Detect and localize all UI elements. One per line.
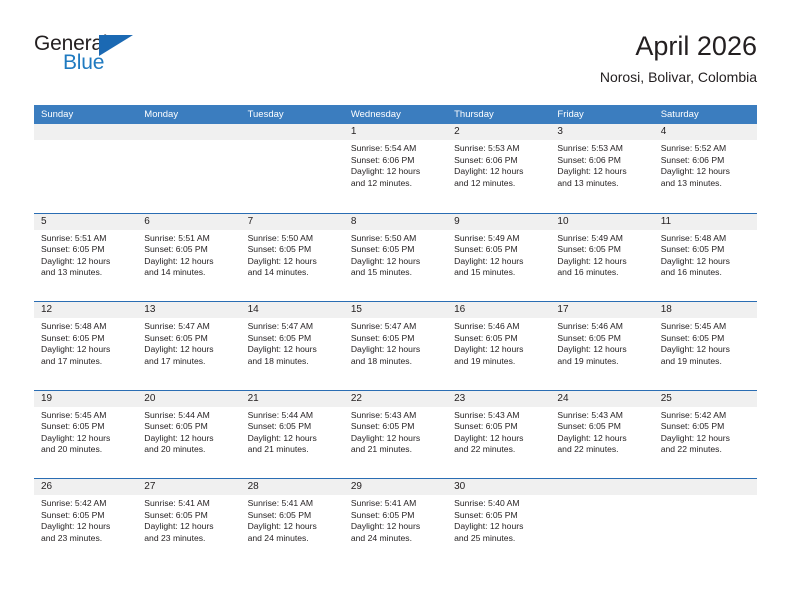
week-row: 5Sunrise: 5:51 AMSunset: 6:05 PMDaylight… — [34, 213, 757, 302]
day-cell-22[interactable]: 22Sunrise: 5:43 AMSunset: 6:05 PMDayligh… — [344, 391, 447, 479]
day-number: 11 — [654, 214, 757, 230]
day-detail-line: Sunrise: 5:43 AM — [351, 410, 441, 422]
day-details: Sunrise: 5:44 AMSunset: 6:05 PMDaylight:… — [241, 407, 344, 456]
day-number-band — [241, 124, 344, 140]
day-detail-line: Sunrise: 5:54 AM — [351, 143, 441, 155]
title-block: April 2026 Norosi, Bolivar, Colombia — [600, 30, 757, 86]
day-detail-line: and 19 minutes. — [557, 356, 647, 368]
day-detail-line: Sunset: 6:05 PM — [144, 510, 234, 522]
day-cell-15[interactable]: 15Sunrise: 5:47 AMSunset: 6:05 PMDayligh… — [344, 302, 447, 390]
day-number-band: 20 — [137, 391, 240, 407]
day-detail-line: and 14 minutes. — [248, 267, 338, 279]
day-detail-line: and 22 minutes. — [661, 444, 751, 456]
day-detail-line: Sunset: 6:05 PM — [454, 244, 544, 256]
day-number-band: 19 — [34, 391, 137, 407]
day-number-band: 8 — [344, 214, 447, 230]
day-detail-line: Daylight: 12 hours — [144, 344, 234, 356]
day-number: 21 — [241, 391, 344, 407]
day-number: 4 — [654, 124, 757, 140]
day-detail-line: Sunrise: 5:47 AM — [248, 321, 338, 333]
day-details: Sunrise: 5:43 AMSunset: 6:05 PMDaylight:… — [447, 407, 550, 456]
day-detail-line: Sunrise: 5:49 AM — [454, 233, 544, 245]
day-number: 3 — [550, 124, 653, 140]
day-detail-line: Sunrise: 5:41 AM — [248, 498, 338, 510]
day-detail-line: and 21 minutes. — [248, 444, 338, 456]
day-detail-line: Sunrise: 5:51 AM — [41, 233, 131, 245]
day-detail-line: Daylight: 12 hours — [557, 344, 647, 356]
day-detail-line: Sunrise: 5:53 AM — [454, 143, 544, 155]
day-detail-line: Sunrise: 5:44 AM — [144, 410, 234, 422]
day-detail-line: Sunset: 6:05 PM — [144, 421, 234, 433]
day-detail-line: Daylight: 12 hours — [454, 433, 544, 445]
day-detail-line: Sunset: 6:06 PM — [351, 155, 441, 167]
brand-name-blue: Blue — [63, 51, 104, 75]
day-cell-16[interactable]: 16Sunrise: 5:46 AMSunset: 6:05 PMDayligh… — [447, 302, 550, 390]
day-detail-line: Daylight: 12 hours — [144, 433, 234, 445]
day-cell-13[interactable]: 13Sunrise: 5:47 AMSunset: 6:05 PMDayligh… — [137, 302, 240, 390]
day-number: 27 — [137, 479, 240, 495]
day-details: Sunrise: 5:50 AMSunset: 6:05 PMDaylight:… — [241, 230, 344, 279]
day-detail-line: Sunset: 6:05 PM — [454, 421, 544, 433]
weekday-header-sunday: Sunday — [34, 105, 137, 124]
day-detail-line: Daylight: 12 hours — [661, 166, 751, 178]
day-details: Sunrise: 5:43 AMSunset: 6:05 PMDaylight:… — [550, 407, 653, 456]
day-cell-1[interactable]: 1Sunrise: 5:54 AMSunset: 6:06 PMDaylight… — [344, 124, 447, 213]
day-detail-line: Sunrise: 5:48 AM — [661, 233, 751, 245]
day-number-band: 25 — [654, 391, 757, 407]
day-detail-line: Sunrise: 5:42 AM — [41, 498, 131, 510]
day-cell-14[interactable]: 14Sunrise: 5:47 AMSunset: 6:05 PMDayligh… — [241, 302, 344, 390]
day-details: Sunrise: 5:48 AMSunset: 6:05 PMDaylight:… — [654, 230, 757, 279]
page-header: General Blue April 2026 Norosi, Bolivar,… — [34, 30, 757, 96]
day-detail-line: Sunrise: 5:46 AM — [557, 321, 647, 333]
day-detail-line: Daylight: 12 hours — [454, 256, 544, 268]
day-detail-line: Sunrise: 5:44 AM — [248, 410, 338, 422]
day-detail-line: Daylight: 12 hours — [41, 521, 131, 533]
day-details: Sunrise: 5:46 AMSunset: 6:05 PMDaylight:… — [447, 318, 550, 367]
weekday-header-wednesday: Wednesday — [344, 105, 447, 124]
day-number-band: 5 — [34, 214, 137, 230]
day-detail-line: and 23 minutes. — [144, 533, 234, 545]
week-row: 1Sunrise: 5:54 AMSunset: 6:06 PMDaylight… — [34, 124, 757, 213]
day-detail-line: Sunset: 6:05 PM — [248, 421, 338, 433]
day-detail-line: Sunrise: 5:46 AM — [454, 321, 544, 333]
day-number: 25 — [654, 391, 757, 407]
day-detail-line: and 14 minutes. — [144, 267, 234, 279]
day-details: Sunrise: 5:47 AMSunset: 6:05 PMDaylight:… — [344, 318, 447, 367]
day-number: 13 — [137, 302, 240, 318]
day-detail-line: Sunset: 6:05 PM — [351, 244, 441, 256]
day-detail-line: Sunset: 6:05 PM — [41, 244, 131, 256]
day-detail-line: Sunrise: 5:45 AM — [41, 410, 131, 422]
day-cell-4[interactable]: 4Sunrise: 5:52 AMSunset: 6:06 PMDaylight… — [654, 124, 757, 213]
day-number: 23 — [447, 391, 550, 407]
day-detail-line: Daylight: 12 hours — [248, 521, 338, 533]
day-detail-line: Sunrise: 5:43 AM — [454, 410, 544, 422]
day-number: 10 — [550, 214, 653, 230]
day-number: 26 — [34, 479, 137, 495]
day-details: Sunrise: 5:51 AMSunset: 6:05 PMDaylight:… — [137, 230, 240, 279]
day-number: 6 — [137, 214, 240, 230]
day-cell-12[interactable]: 12Sunrise: 5:48 AMSunset: 6:05 PMDayligh… — [34, 302, 137, 390]
day-cell-30[interactable]: 30Sunrise: 5:40 AMSunset: 6:05 PMDayligh… — [447, 479, 550, 567]
day-cell-empty — [137, 124, 240, 213]
day-number: 16 — [447, 302, 550, 318]
day-detail-line: Daylight: 12 hours — [661, 344, 751, 356]
day-detail-line: and 13 minutes. — [41, 267, 131, 279]
weekday-header-thursday: Thursday — [447, 105, 550, 124]
day-detail-line: Daylight: 12 hours — [454, 166, 544, 178]
day-detail-line: and 20 minutes. — [41, 444, 131, 456]
calendar-page: General Blue April 2026 Norosi, Bolivar,… — [0, 0, 792, 612]
day-detail-line: Sunset: 6:06 PM — [454, 155, 544, 167]
day-cell-19[interactable]: 19Sunrise: 5:45 AMSunset: 6:05 PMDayligh… — [34, 391, 137, 479]
day-cell-5[interactable]: 5Sunrise: 5:51 AMSunset: 6:05 PMDaylight… — [34, 214, 137, 302]
day-number-band — [34, 124, 137, 140]
day-detail-line: Sunrise: 5:51 AM — [144, 233, 234, 245]
day-detail-line: Sunrise: 5:41 AM — [144, 498, 234, 510]
day-cell-26[interactable]: 26Sunrise: 5:42 AMSunset: 6:05 PMDayligh… — [34, 479, 137, 567]
day-detail-line: and 12 minutes. — [454, 178, 544, 190]
day-number: 22 — [344, 391, 447, 407]
day-detail-line: Sunrise: 5:41 AM — [351, 498, 441, 510]
day-cell-empty — [654, 479, 757, 567]
day-details: Sunrise: 5:41 AMSunset: 6:05 PMDaylight:… — [137, 495, 240, 544]
day-cell-8[interactable]: 8Sunrise: 5:50 AMSunset: 6:05 PMDaylight… — [344, 214, 447, 302]
day-details: Sunrise: 5:42 AMSunset: 6:05 PMDaylight:… — [34, 495, 137, 544]
day-details: Sunrise: 5:45 AMSunset: 6:05 PMDaylight:… — [34, 407, 137, 456]
day-details: Sunrise: 5:48 AMSunset: 6:05 PMDaylight:… — [34, 318, 137, 367]
calendar-table: SundayMondayTuesdayWednesdayThursdayFrid… — [34, 105, 757, 567]
day-detail-line: Daylight: 12 hours — [351, 521, 441, 533]
day-detail-line: Daylight: 12 hours — [41, 344, 131, 356]
day-details: Sunrise: 5:51 AMSunset: 6:05 PMDaylight:… — [34, 230, 137, 279]
day-details: Sunrise: 5:47 AMSunset: 6:05 PMDaylight:… — [241, 318, 344, 367]
day-detail-line: Sunset: 6:05 PM — [351, 510, 441, 522]
day-detail-line: Sunset: 6:05 PM — [144, 333, 234, 345]
day-number-band: 29 — [344, 479, 447, 495]
day-details: Sunrise: 5:54 AMSunset: 6:06 PMDaylight:… — [344, 140, 447, 189]
day-number-band: 30 — [447, 479, 550, 495]
day-detail-line: Daylight: 12 hours — [454, 521, 544, 533]
week-row: 12Sunrise: 5:48 AMSunset: 6:05 PMDayligh… — [34, 301, 757, 390]
day-cell-3[interactable]: 3Sunrise: 5:53 AMSunset: 6:06 PMDaylight… — [550, 124, 653, 213]
day-detail-line: Sunrise: 5:53 AM — [557, 143, 647, 155]
day-detail-line: and 17 minutes. — [41, 356, 131, 368]
day-number: 24 — [550, 391, 653, 407]
brand-logo[interactable]: General Blue — [34, 32, 144, 78]
weekday-header-row: SundayMondayTuesdayWednesdayThursdayFrid… — [34, 105, 757, 124]
day-detail-line: Sunrise: 5:45 AM — [661, 321, 751, 333]
day-detail-line: Sunrise: 5:43 AM — [557, 410, 647, 422]
day-detail-line: and 13 minutes. — [661, 178, 751, 190]
day-detail-line: and 13 minutes. — [557, 178, 647, 190]
day-detail-line: Daylight: 12 hours — [144, 256, 234, 268]
day-number-band: 15 — [344, 302, 447, 318]
day-detail-line: Daylight: 12 hours — [41, 433, 131, 445]
day-detail-line: Sunrise: 5:42 AM — [661, 410, 751, 422]
day-number: 7 — [241, 214, 344, 230]
day-detail-line: Sunrise: 5:48 AM — [41, 321, 131, 333]
day-number-band: 2 — [447, 124, 550, 140]
day-detail-line: Sunset: 6:05 PM — [144, 244, 234, 256]
day-details — [550, 495, 653, 498]
day-detail-line: and 25 minutes. — [454, 533, 544, 545]
day-number-band — [137, 124, 240, 140]
day-cell-empty — [550, 479, 653, 567]
day-number-band: 28 — [241, 479, 344, 495]
day-detail-line: and 20 minutes. — [144, 444, 234, 456]
day-number-band: 17 — [550, 302, 653, 318]
day-cell-9[interactable]: 9Sunrise: 5:49 AMSunset: 6:05 PMDaylight… — [447, 214, 550, 302]
day-number-band: 9 — [447, 214, 550, 230]
day-detail-line: Sunrise: 5:49 AM — [557, 233, 647, 245]
day-detail-line: Daylight: 12 hours — [557, 433, 647, 445]
day-detail-line: Sunset: 6:05 PM — [248, 333, 338, 345]
day-cell-25[interactable]: 25Sunrise: 5:42 AMSunset: 6:05 PMDayligh… — [654, 391, 757, 479]
day-number-band: 21 — [241, 391, 344, 407]
day-cell-10[interactable]: 10Sunrise: 5:49 AMSunset: 6:05 PMDayligh… — [550, 214, 653, 302]
day-detail-line: and 22 minutes. — [557, 444, 647, 456]
day-detail-line: Daylight: 12 hours — [351, 166, 441, 178]
day-detail-line: Sunset: 6:05 PM — [248, 510, 338, 522]
day-number: 28 — [241, 479, 344, 495]
day-number: 15 — [344, 302, 447, 318]
day-cell-6[interactable]: 6Sunrise: 5:51 AMSunset: 6:05 PMDaylight… — [137, 214, 240, 302]
day-detail-line: and 15 minutes. — [454, 267, 544, 279]
day-number-band: 10 — [550, 214, 653, 230]
day-detail-line: Sunset: 6:05 PM — [661, 333, 751, 345]
day-detail-line: Sunrise: 5:47 AM — [144, 321, 234, 333]
day-number-band: 27 — [137, 479, 240, 495]
day-detail-line: Daylight: 12 hours — [557, 166, 647, 178]
day-detail-line: Sunrise: 5:50 AM — [351, 233, 441, 245]
day-cell-empty — [34, 124, 137, 213]
day-detail-line: Sunrise: 5:50 AM — [248, 233, 338, 245]
day-detail-line: Daylight: 12 hours — [661, 433, 751, 445]
weekday-header-saturday: Saturday — [654, 105, 757, 124]
day-details — [654, 495, 757, 498]
day-details: Sunrise: 5:53 AMSunset: 6:06 PMDaylight:… — [550, 140, 653, 189]
day-number-band: 12 — [34, 302, 137, 318]
day-detail-line: Sunset: 6:05 PM — [454, 510, 544, 522]
day-number-band: 6 — [137, 214, 240, 230]
day-cell-17[interactable]: 17Sunrise: 5:46 AMSunset: 6:05 PMDayligh… — [550, 302, 653, 390]
day-detail-line: Daylight: 12 hours — [454, 344, 544, 356]
day-detail-line: Sunset: 6:06 PM — [557, 155, 647, 167]
day-number-band: 3 — [550, 124, 653, 140]
day-details: Sunrise: 5:47 AMSunset: 6:05 PMDaylight:… — [137, 318, 240, 367]
day-cell-24[interactable]: 24Sunrise: 5:43 AMSunset: 6:05 PMDayligh… — [550, 391, 653, 479]
day-number-band: 7 — [241, 214, 344, 230]
day-detail-line: and 12 minutes. — [351, 178, 441, 190]
day-details — [34, 140, 137, 143]
day-number: 19 — [34, 391, 137, 407]
day-number: 5 — [34, 214, 137, 230]
day-details: Sunrise: 5:41 AMSunset: 6:05 PMDaylight:… — [241, 495, 344, 544]
day-number-band: 14 — [241, 302, 344, 318]
weekday-header-tuesday: Tuesday — [241, 105, 344, 124]
day-detail-line: Sunrise: 5:47 AM — [351, 321, 441, 333]
day-detail-line: Sunset: 6:05 PM — [41, 333, 131, 345]
day-number-band: 26 — [34, 479, 137, 495]
day-detail-line: and 16 minutes. — [661, 267, 751, 279]
day-detail-line: Sunset: 6:05 PM — [557, 421, 647, 433]
day-number: 1 — [344, 124, 447, 140]
day-details: Sunrise: 5:41 AMSunset: 6:05 PMDaylight:… — [344, 495, 447, 544]
day-cell-20[interactable]: 20Sunrise: 5:44 AMSunset: 6:05 PMDayligh… — [137, 391, 240, 479]
day-details: Sunrise: 5:49 AMSunset: 6:05 PMDaylight:… — [550, 230, 653, 279]
day-number: 17 — [550, 302, 653, 318]
day-cell-7[interactable]: 7Sunrise: 5:50 AMSunset: 6:05 PMDaylight… — [241, 214, 344, 302]
day-detail-line: Daylight: 12 hours — [351, 256, 441, 268]
day-detail-line: Daylight: 12 hours — [661, 256, 751, 268]
day-detail-line: and 24 minutes. — [248, 533, 338, 545]
day-detail-line: and 19 minutes. — [454, 356, 544, 368]
day-details — [137, 140, 240, 143]
day-number-band — [550, 479, 653, 495]
day-number: 29 — [344, 479, 447, 495]
day-number-band: 18 — [654, 302, 757, 318]
day-detail-line: Sunset: 6:05 PM — [41, 510, 131, 522]
day-number-band: 1 — [344, 124, 447, 140]
day-number-band: 23 — [447, 391, 550, 407]
day-detail-line: and 18 minutes. — [248, 356, 338, 368]
day-cell-21[interactable]: 21Sunrise: 5:44 AMSunset: 6:05 PMDayligh… — [241, 391, 344, 479]
day-number: 20 — [137, 391, 240, 407]
day-number: 8 — [344, 214, 447, 230]
day-details: Sunrise: 5:50 AMSunset: 6:05 PMDaylight:… — [344, 230, 447, 279]
weekday-header-friday: Friday — [550, 105, 653, 124]
day-detail-line: Sunset: 6:05 PM — [557, 244, 647, 256]
day-cell-11[interactable]: 11Sunrise: 5:48 AMSunset: 6:05 PMDayligh… — [654, 214, 757, 302]
day-detail-line: and 21 minutes. — [351, 444, 441, 456]
day-details: Sunrise: 5:40 AMSunset: 6:05 PMDaylight:… — [447, 495, 550, 544]
day-details: Sunrise: 5:49 AMSunset: 6:05 PMDaylight:… — [447, 230, 550, 279]
week-row: 19Sunrise: 5:45 AMSunset: 6:05 PMDayligh… — [34, 390, 757, 479]
day-details: Sunrise: 5:53 AMSunset: 6:06 PMDaylight:… — [447, 140, 550, 189]
page-subtitle: Norosi, Bolivar, Colombia — [600, 68, 757, 86]
day-details: Sunrise: 5:44 AMSunset: 6:05 PMDaylight:… — [137, 407, 240, 456]
day-detail-line: and 22 minutes. — [454, 444, 544, 456]
day-details: Sunrise: 5:52 AMSunset: 6:06 PMDaylight:… — [654, 140, 757, 189]
day-cell-27[interactable]: 27Sunrise: 5:41 AMSunset: 6:05 PMDayligh… — [137, 479, 240, 567]
day-number-band: 22 — [344, 391, 447, 407]
page-title: April 2026 — [600, 30, 757, 63]
day-detail-line: and 19 minutes. — [661, 356, 751, 368]
day-detail-line: and 23 minutes. — [41, 533, 131, 545]
day-number-band: 13 — [137, 302, 240, 318]
day-detail-line: and 17 minutes. — [144, 356, 234, 368]
day-detail-line: Daylight: 12 hours — [248, 344, 338, 356]
day-number: 14 — [241, 302, 344, 318]
day-number: 18 — [654, 302, 757, 318]
day-cell-28[interactable]: 28Sunrise: 5:41 AMSunset: 6:05 PMDayligh… — [241, 479, 344, 567]
day-detail-line: Sunrise: 5:40 AM — [454, 498, 544, 510]
day-detail-line: Daylight: 12 hours — [248, 433, 338, 445]
day-detail-line: Daylight: 12 hours — [351, 433, 441, 445]
day-detail-line: and 18 minutes. — [351, 356, 441, 368]
week-row: 26Sunrise: 5:42 AMSunset: 6:05 PMDayligh… — [34, 478, 757, 567]
day-detail-line: Daylight: 12 hours — [41, 256, 131, 268]
day-number: 2 — [447, 124, 550, 140]
day-details: Sunrise: 5:42 AMSunset: 6:05 PMDaylight:… — [654, 407, 757, 456]
day-number-band: 4 — [654, 124, 757, 140]
calendar-weeks: 1Sunrise: 5:54 AMSunset: 6:06 PMDaylight… — [34, 124, 757, 567]
day-detail-line: Sunset: 6:05 PM — [41, 421, 131, 433]
day-detail-line: Sunset: 6:05 PM — [557, 333, 647, 345]
day-number-band — [654, 479, 757, 495]
day-detail-line: Sunset: 6:05 PM — [661, 421, 751, 433]
day-detail-line: and 24 minutes. — [351, 533, 441, 545]
day-cell-29[interactable]: 29Sunrise: 5:41 AMSunset: 6:05 PMDayligh… — [344, 479, 447, 567]
day-number-band: 16 — [447, 302, 550, 318]
day-detail-line: Sunset: 6:05 PM — [454, 333, 544, 345]
weekday-header-monday: Monday — [137, 105, 240, 124]
day-detail-line: and 15 minutes. — [351, 267, 441, 279]
day-detail-line: Sunset: 6:06 PM — [661, 155, 751, 167]
day-number-band: 24 — [550, 391, 653, 407]
day-cell-23[interactable]: 23Sunrise: 5:43 AMSunset: 6:05 PMDayligh… — [447, 391, 550, 479]
day-details: Sunrise: 5:43 AMSunset: 6:05 PMDaylight:… — [344, 407, 447, 456]
day-detail-line: Sunrise: 5:52 AM — [661, 143, 751, 155]
day-detail-line: Daylight: 12 hours — [557, 256, 647, 268]
day-cell-2[interactable]: 2Sunrise: 5:53 AMSunset: 6:06 PMDaylight… — [447, 124, 550, 213]
day-detail-line: Sunset: 6:05 PM — [248, 244, 338, 256]
day-number-band: 11 — [654, 214, 757, 230]
day-number: 30 — [447, 479, 550, 495]
day-number: 9 — [447, 214, 550, 230]
day-detail-line: Sunset: 6:05 PM — [661, 244, 751, 256]
day-detail-line: Daylight: 12 hours — [351, 344, 441, 356]
day-details: Sunrise: 5:45 AMSunset: 6:05 PMDaylight:… — [654, 318, 757, 367]
day-cell-empty — [241, 124, 344, 213]
day-detail-line: Daylight: 12 hours — [248, 256, 338, 268]
day-details: Sunrise: 5:46 AMSunset: 6:05 PMDaylight:… — [550, 318, 653, 367]
day-detail-line: Sunset: 6:05 PM — [351, 421, 441, 433]
day-detail-line: Sunset: 6:05 PM — [351, 333, 441, 345]
day-cell-18[interactable]: 18Sunrise: 5:45 AMSunset: 6:05 PMDayligh… — [654, 302, 757, 390]
day-details — [241, 140, 344, 143]
day-number: 12 — [34, 302, 137, 318]
day-detail-line: and 16 minutes. — [557, 267, 647, 279]
day-detail-line: Daylight: 12 hours — [144, 521, 234, 533]
